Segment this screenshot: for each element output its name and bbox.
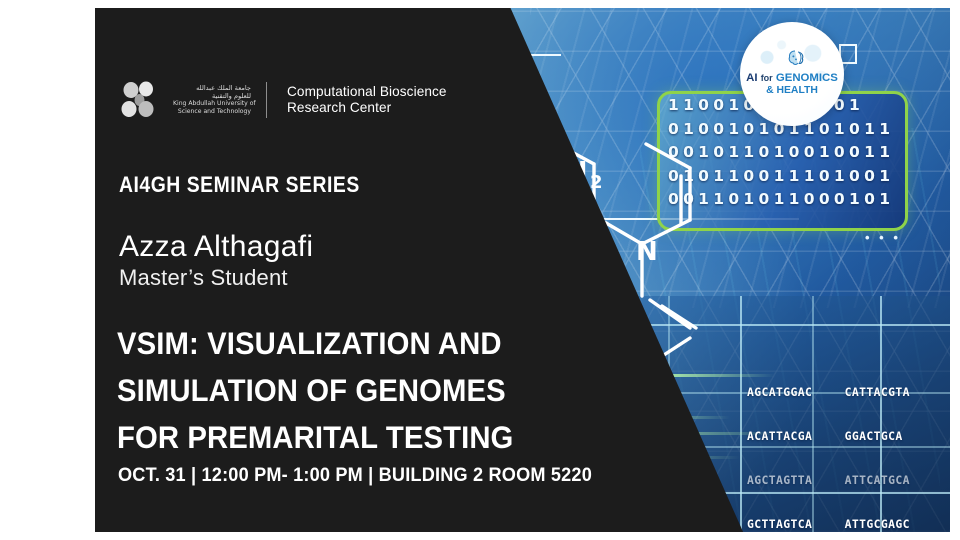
talk-title-line3: FOR PREMARITAL TESTING <box>117 414 601 461</box>
badge-ai: AI <box>746 72 757 84</box>
talk-title: VSIM: VISUALIZATION AND SIMULATION OF GE… <box>117 320 601 461</box>
ellipsis-dots: • • • <box>865 230 901 245</box>
dna-column-left: AGCATGGAC ACATTACGA AGCTAGTTA GCTTAGTCA … <box>747 356 812 532</box>
poster-content: جامعة الملك عبدالله للعلوم والتقنية King… <box>95 8 655 532</box>
event-details: OCT. 31 | 12:00 PM- 1:00 PM | BUILDING 2… <box>118 464 592 487</box>
logo-divider <box>266 82 267 118</box>
talk-title-line1: VSIM: VISUALIZATION AND <box>117 320 601 367</box>
kaust-logo: جامعة الملك عبدالله للعلوم والتقنية King… <box>120 80 447 120</box>
kaust-english-line2: Science and Technology <box>173 108 251 116</box>
badge-line1: AI for GENOMICS <box>740 72 844 85</box>
speaker-name: Azza Althagafi <box>119 230 313 264</box>
dna-column-right: CATTACGTA GGACTGCA ATTCATGCA ATTGCGAGC A… <box>845 356 910 532</box>
speaker-block: Azza Althagafi Master’s Student <box>119 230 313 292</box>
talk-title-line2: SIMULATION OF GENOMES <box>117 367 601 414</box>
badge-line2: & HEALTH <box>740 85 844 98</box>
kaust-english-line1: King Abdullah University of <box>173 100 251 108</box>
dna-sequence: ATTCATGCA <box>845 473 910 488</box>
kaust-mark-icon <box>120 80 162 120</box>
kaust-arabic-text: جامعة الملك عبدالله للعلوم والتقنية King… <box>173 84 251 117</box>
seminar-poster: 1100101101001 010010101101011 0010110100… <box>0 0 960 540</box>
center-name-line2: Research Center <box>287 100 447 116</box>
brain-dna-icon <box>785 49 807 69</box>
center-name: Computational Bioscience Research Center <box>287 84 447 117</box>
dna-sequence: GCTTAGTCA <box>747 517 812 532</box>
dna-sequence: CATTACGTA <box>845 385 910 400</box>
dna-sequence: AGCTAGTTA <box>747 473 812 488</box>
dna-sequence: ATTGCGAGC <box>845 517 910 532</box>
series-label: AI4GH SEMINAR SERIES <box>119 172 360 198</box>
dna-sequence: GGACTGCA <box>845 429 910 444</box>
kaust-arabic-line2: للعلوم والتقنية <box>173 92 251 100</box>
badge-text: AI for GENOMICS & HEALTH <box>740 72 844 97</box>
dna-sequence: AGCATGGAC <box>747 385 812 400</box>
dna-sequence-block: AGCATGGAC ACATTACGA AGCTAGTTA GCTTAGTCA … <box>747 356 910 532</box>
badge-genomics: GENOMICS <box>776 72 838 84</box>
center-name-line1: Computational Bioscience <box>287 84 447 100</box>
speaker-role: Master’s Student <box>119 264 313 292</box>
ai4gh-badge: AI for GENOMICS & HEALTH <box>740 22 844 126</box>
kaust-arabic-line1: جامعة الملك عبدالله <box>173 84 251 92</box>
badge-for: for <box>761 73 773 83</box>
dna-sequence: ACATTACGA <box>747 429 812 444</box>
